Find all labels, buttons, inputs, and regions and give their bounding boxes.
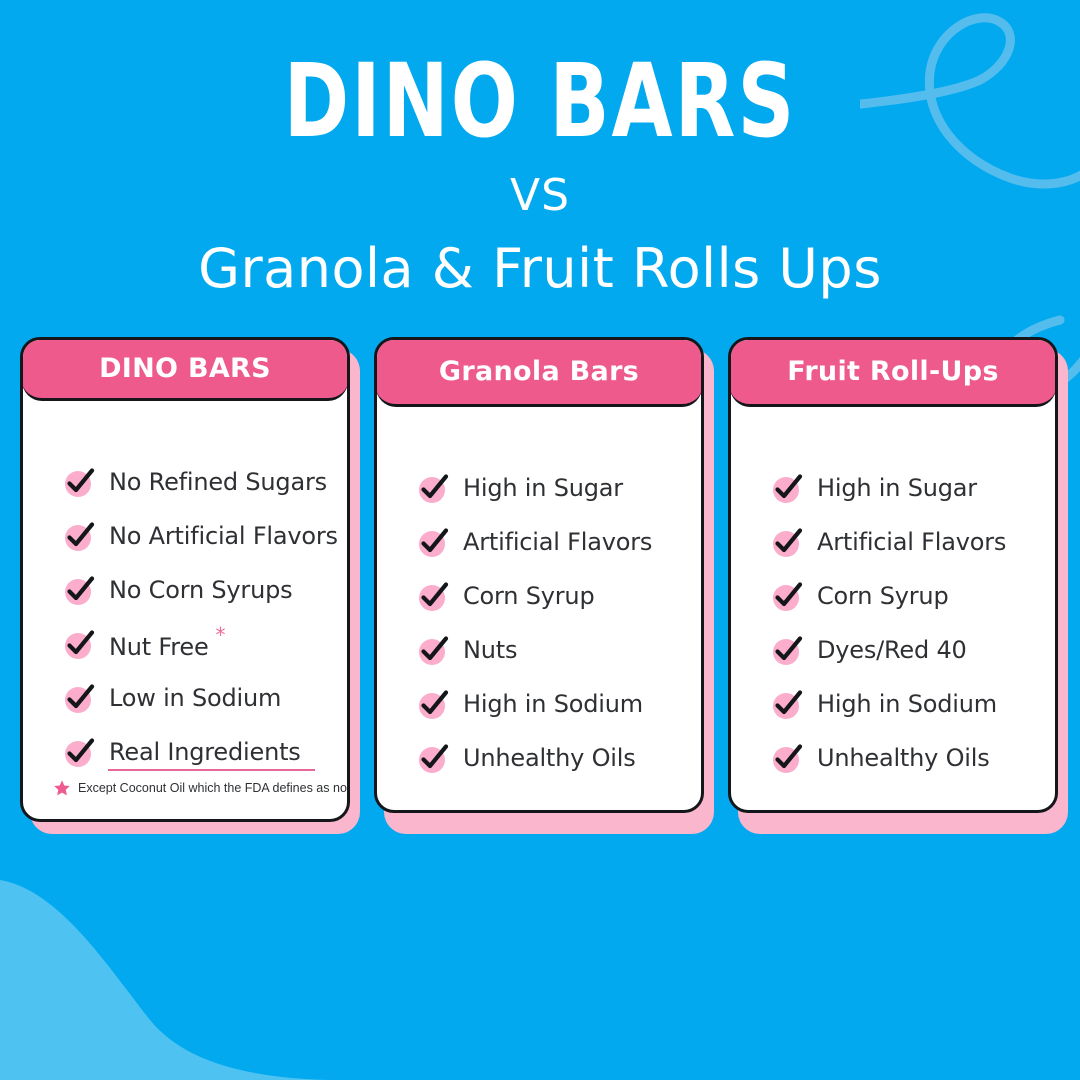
page-title: DINO BARS <box>0 52 1080 151</box>
list-item-granola-bars-1[interactable]: Artificial Flavors <box>377 515 701 569</box>
feature-list-dino-bars: No Refined Sugars No Artificial Flavors … <box>23 455 347 779</box>
footnote-text: Except Coconut Oil which the FDA defines… <box>78 781 350 795</box>
check-icon <box>65 683 95 713</box>
card-title: Granola Bars <box>439 356 639 387</box>
card-inner: DINO BARS No Refined Sugars No Artificia… <box>20 337 350 822</box>
list-item-label: No Refined Sugars <box>109 468 327 496</box>
check-glyph <box>773 635 803 665</box>
check-glyph <box>419 635 449 665</box>
check-glyph <box>773 581 803 611</box>
list-item-label: High in Sugar <box>463 474 623 502</box>
check-glyph <box>419 581 449 611</box>
list-item-label: High in Sodium <box>817 690 997 718</box>
card-inner: Granola Bars High in Sugar Artificial Fl… <box>374 337 704 813</box>
card-header-granola-bars: Granola Bars <box>376 339 702 407</box>
check-icon <box>419 527 449 557</box>
vs-label: VS <box>0 170 1080 221</box>
list-item-dino-bars-2[interactable]: No Corn Syrups <box>23 563 347 617</box>
asterisk-icon: * <box>216 623 226 647</box>
list-item-label: No Artificial Flavors <box>109 522 338 550</box>
check-glyph <box>773 527 803 557</box>
list-item-granola-bars-0[interactable]: High in Sugar <box>377 461 701 515</box>
list-item-granola-bars-3[interactable]: Nuts <box>377 623 701 677</box>
check-icon <box>65 737 95 767</box>
list-item-fruit-roll-ups-1[interactable]: Artificial Flavors <box>731 515 1055 569</box>
list-item-label: Dyes/Red 40 <box>817 636 967 664</box>
check-glyph <box>65 521 95 551</box>
card-title: DINO BARS <box>99 353 271 384</box>
list-item-fruit-roll-ups-4[interactable]: High in Sodium <box>731 677 1055 731</box>
list-item-fruit-roll-ups-0[interactable]: High in Sugar <box>731 461 1055 515</box>
check-icon <box>773 743 803 773</box>
check-icon <box>65 575 95 605</box>
comparison-card-dino-bars: DINO BARS No Refined Sugars No Artificia… <box>20 337 350 822</box>
check-icon <box>773 581 803 611</box>
check-icon <box>419 689 449 719</box>
list-item-granola-bars-2[interactable]: Corn Syrup <box>377 569 701 623</box>
check-glyph <box>773 689 803 719</box>
feature-list-fruit-roll-ups: High in Sugar Artificial Flavors Corn Sy… <box>731 461 1055 785</box>
check-glyph <box>419 527 449 557</box>
check-glyph <box>65 575 95 605</box>
check-icon <box>65 521 95 551</box>
card-header-dino-bars: DINO BARS <box>22 339 348 401</box>
comparison-card-fruit-roll-ups: Fruit Roll-Ups High in Sugar Artificial … <box>728 337 1058 822</box>
list-item-label: Low in Sodium <box>109 684 281 712</box>
check-icon <box>65 467 95 497</box>
list-item-label: Corn Syrup <box>463 582 594 610</box>
check-glyph <box>419 689 449 719</box>
list-item-dino-bars-0[interactable]: No Refined Sugars <box>23 455 347 509</box>
list-item-label: Nuts <box>463 636 517 664</box>
page-subtitle: Granola & Fruit Rolls Ups <box>0 237 1080 300</box>
star-icon <box>53 779 71 797</box>
card-header-fruit-roll-ups: Fruit Roll-Ups <box>730 339 1056 407</box>
list-item-label: Unhealthy Oils <box>463 744 636 772</box>
page-header: DINO BARS VS Granola & Fruit Rolls Ups <box>0 0 1080 300</box>
check-glyph <box>65 683 95 713</box>
card-body: No Refined Sugars No Artificial Flavors … <box>23 401 347 819</box>
check-glyph <box>419 743 449 773</box>
list-item-label: Nut Free* <box>109 627 225 661</box>
list-item-fruit-roll-ups-3[interactable]: Dyes/Red 40 <box>731 623 1055 677</box>
list-item-fruit-roll-ups-2[interactable]: Corn Syrup <box>731 569 1055 623</box>
check-icon <box>773 689 803 719</box>
check-icon <box>419 473 449 503</box>
list-item-label: No Corn Syrups <box>109 576 292 604</box>
list-item-label: High in Sugar <box>817 474 977 502</box>
feature-list-granola-bars: High in Sugar Artificial Flavors Corn Sy… <box>377 461 701 785</box>
list-item-dino-bars-5[interactable]: Real Ingredients <box>23 725 347 779</box>
check-icon <box>419 635 449 665</box>
list-item-label: High in Sodium <box>463 690 643 718</box>
wave-bottom-left-icon <box>0 820 420 1080</box>
check-icon <box>419 743 449 773</box>
check-glyph <box>419 473 449 503</box>
list-item-fruit-roll-ups-5[interactable]: Unhealthy Oils <box>731 731 1055 785</box>
comparison-cards: DINO BARS No Refined Sugars No Artificia… <box>20 337 1060 822</box>
list-item-label: Artificial Flavors <box>817 528 1006 556</box>
check-icon <box>773 473 803 503</box>
list-item-dino-bars-4[interactable]: Low in Sodium <box>23 671 347 725</box>
check-icon <box>419 581 449 611</box>
comparison-card-granola-bars: Granola Bars High in Sugar Artificial Fl… <box>374 337 704 822</box>
list-item-dino-bars-3[interactable]: Nut Free* <box>23 617 347 671</box>
check-glyph <box>773 743 803 773</box>
list-item-label: Corn Syrup <box>817 582 948 610</box>
check-glyph <box>65 629 95 659</box>
footnote: Except Coconut Oil which the FDA defines… <box>23 779 347 797</box>
check-icon <box>773 635 803 665</box>
card-body: High in Sugar Artificial Flavors Corn Sy… <box>377 407 701 810</box>
check-glyph <box>65 467 95 497</box>
check-glyph <box>773 473 803 503</box>
list-item-dino-bars-1[interactable]: No Artificial Flavors <box>23 509 347 563</box>
card-inner: Fruit Roll-Ups High in Sugar Artificial … <box>728 337 1058 813</box>
check-icon <box>773 527 803 557</box>
list-item-granola-bars-4[interactable]: High in Sodium <box>377 677 701 731</box>
list-item-label: Unhealthy Oils <box>817 744 990 772</box>
list-item-label: Real Ingredients <box>109 738 301 766</box>
check-icon <box>65 629 95 659</box>
card-body: High in Sugar Artificial Flavors Corn Sy… <box>731 407 1055 810</box>
list-item-label: Artificial Flavors <box>463 528 652 556</box>
card-title: Fruit Roll-Ups <box>787 356 998 387</box>
list-item-granola-bars-5[interactable]: Unhealthy Oils <box>377 731 701 785</box>
check-glyph <box>65 737 95 767</box>
